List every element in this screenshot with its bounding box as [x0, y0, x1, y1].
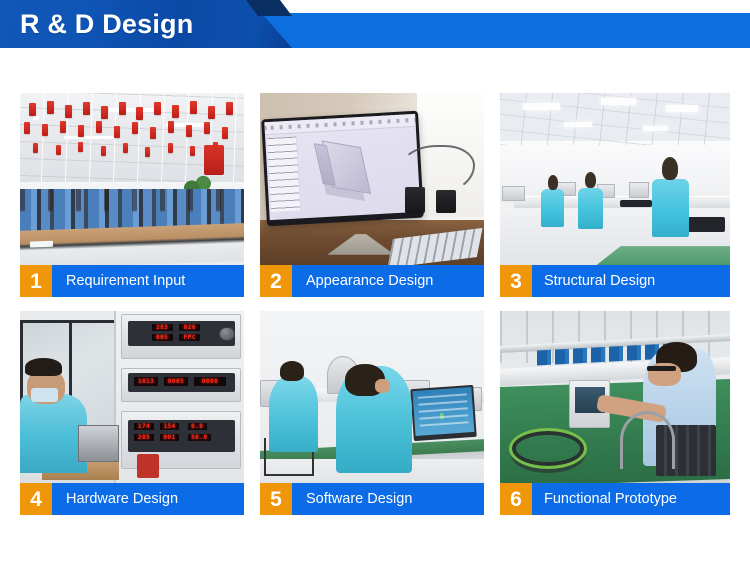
- step-label-bar: 6 Functional Prototype: [500, 483, 730, 515]
- page-header: R & D Design: [0, 0, 750, 48]
- process-step-card[interactable]: 5 Software Design: [260, 311, 484, 515]
- step-label-bar: 3 Structural Design: [500, 265, 730, 297]
- process-step-card[interactable]: 2 Appearance Design: [260, 93, 484, 297]
- step-label-bar: 5 Software Design: [260, 483, 484, 515]
- step-number: 5: [260, 483, 292, 515]
- step-label-bar: 1 Requirement Input: [20, 265, 244, 297]
- step-label-bar: 2 Appearance Design: [260, 265, 484, 297]
- header-right-accent-bar: [230, 13, 750, 48]
- glasses-icon: [647, 366, 676, 371]
- step-number: 3: [500, 265, 532, 297]
- process-step-card[interactable]: 3 Structural Design: [500, 93, 730, 297]
- step-photo-functional-prototype: [500, 311, 730, 483]
- process-step-card[interactable]: 1 Requirement Input: [20, 93, 244, 297]
- step-title: Functional Prototype: [532, 483, 730, 515]
- laptop-illustration: [411, 385, 477, 441]
- step-photo-appearance-design: [260, 93, 484, 265]
- face-mask-decoration: [31, 388, 58, 402]
- step-number: 1: [20, 265, 52, 297]
- process-step-card[interactable]: 6 Functional Prototype: [500, 311, 730, 515]
- step-number: 4: [20, 483, 52, 515]
- step-photo-hardware-design: 283 026 005 FPC 1013 0005 0000: [20, 311, 244, 483]
- step-number: 2: [260, 265, 292, 297]
- step-title: Structural Design: [532, 265, 730, 297]
- page-title: R & D Design: [20, 0, 193, 48]
- step-title: Requirement Input: [52, 265, 244, 297]
- instrument-rack-illustration: 283 026 005 FPC 1013 0005 0000: [114, 311, 244, 483]
- step-photo-requirement-input: [20, 93, 244, 265]
- step-number: 6: [500, 483, 532, 515]
- wall-sign-decoration: [204, 145, 224, 175]
- step-title: Hardware Design: [52, 483, 244, 515]
- step-label-bar: 4 Hardware Design: [20, 483, 244, 515]
- step-photo-software-design: [260, 311, 484, 483]
- step-title: Appearance Design: [292, 265, 484, 297]
- process-step-card[interactable]: 283 026 005 FPC 1013 0005 0000: [20, 311, 244, 515]
- step-title: Software Design: [292, 483, 484, 515]
- step-photo-structural-design: [500, 93, 730, 265]
- process-step-grid: 1 Requirement Input 2 Appearance Desig: [20, 93, 730, 515]
